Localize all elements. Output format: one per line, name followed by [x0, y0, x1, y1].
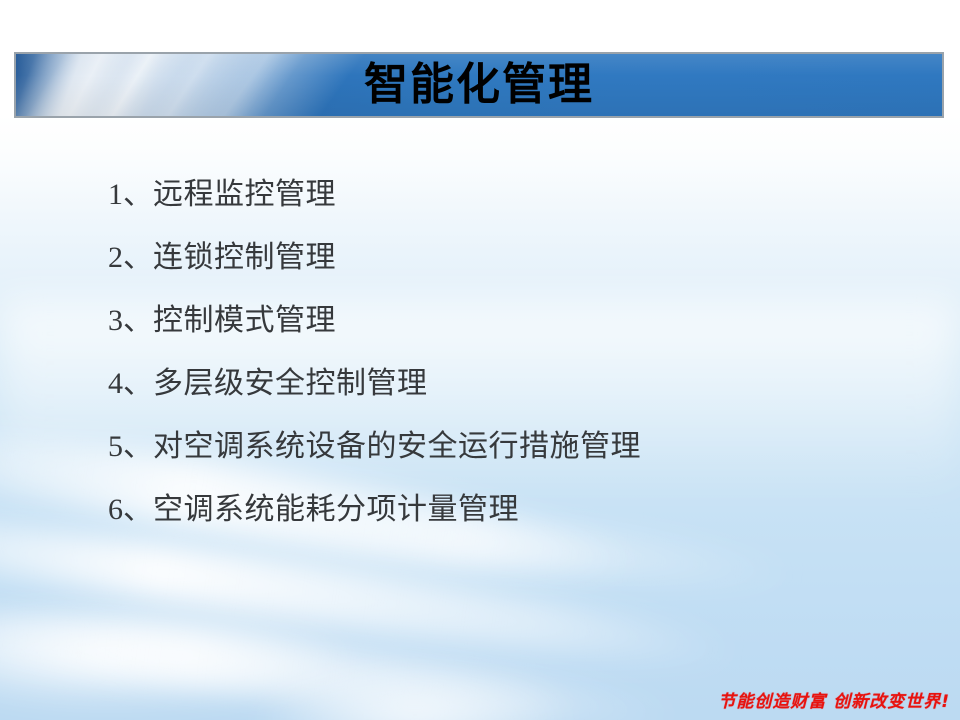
list-item-label: 控制模式管理 — [153, 304, 336, 337]
list-item: 3、控制模式管理 — [108, 289, 908, 352]
list-item-number: 4、 — [108, 367, 153, 400]
list-item: 2、连锁控制管理 — [108, 226, 908, 289]
cloud-puff-decoration — [0, 600, 360, 710]
list-item-number: 5、 — [108, 430, 153, 463]
list-item-label: 多层级安全控制管理 — [153, 367, 428, 400]
list-item-label: 连锁控制管理 — [153, 241, 336, 274]
list-item-label: 远程监控管理 — [153, 178, 336, 211]
list-item-number: 1、 — [108, 178, 153, 211]
cloud-streak-decoration — [0, 590, 680, 720]
slide-canvas: 智能化管理 1、远程监控管理 2、连锁控制管理 3、控制模式管理 4、多层级安全… — [0, 0, 960, 720]
list-item-number: 2、 — [108, 241, 153, 274]
list-item-number: 6、 — [108, 493, 153, 526]
list-item-label: 对空调系统设备的安全运行措施管理 — [153, 430, 641, 463]
list-item: 6、空调系统能耗分项计量管理 — [108, 478, 908, 541]
list-item-number: 3、 — [108, 304, 153, 337]
list-item: 5、对空调系统设备的安全运行措施管理 — [108, 415, 908, 478]
list-item-label: 空调系统能耗分项计量管理 — [153, 493, 519, 526]
title-banner: 智能化管理 — [14, 52, 944, 118]
content-list: 1、远程监控管理 2、连锁控制管理 3、控制模式管理 4、多层级安全控制管理 5… — [108, 163, 908, 541]
list-item: 4、多层级安全控制管理 — [108, 352, 908, 415]
cloud-puff-decoration — [250, 670, 580, 720]
list-item: 1、远程监控管理 — [108, 163, 908, 226]
slide-title: 智能化管理 — [16, 63, 942, 107]
footer-slogan: 节能创造财富 创新改变世界! — [718, 687, 950, 712]
